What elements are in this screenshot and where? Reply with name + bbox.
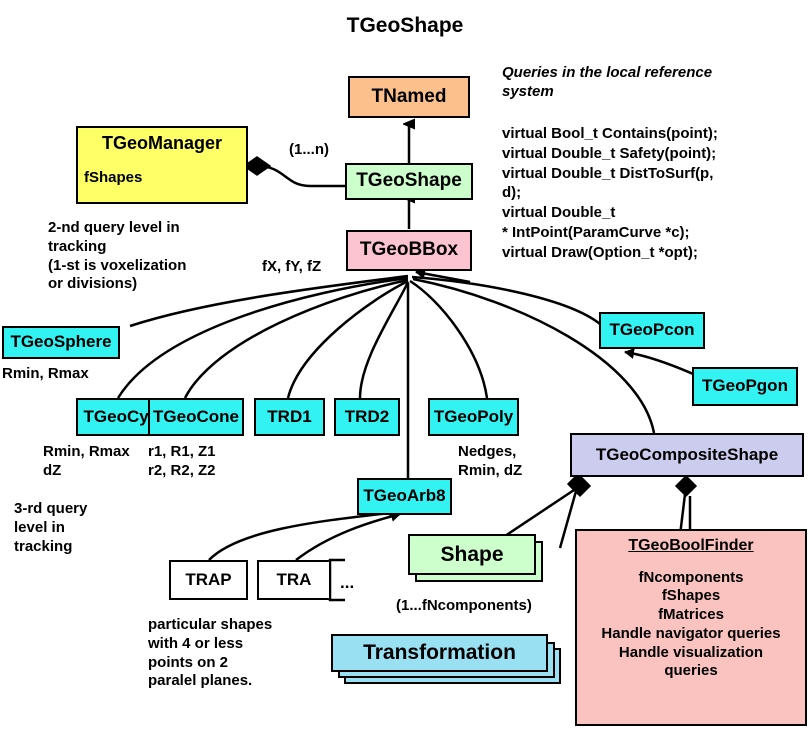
- edge-tra-tgeoarb8: [296, 514, 400, 560]
- node-tgeocone-label: TGeoCone: [153, 408, 239, 427]
- method-line-0: virtual Bool_t Contains(point);: [502, 124, 718, 144]
- method-line-3: d);: [502, 183, 718, 203]
- node-tgeoboolfinder-line-5: queries: [664, 662, 717, 681]
- method-line-5: * IntPoint(ParamCurve *c);: [502, 223, 718, 243]
- node-tgeomanager-attr: fShapes: [84, 170, 142, 187]
- node-tnamed[interactable]: TNamed: [348, 76, 470, 118]
- node-tgeoshape-label: TGeoShape: [356, 171, 462, 192]
- node-tgeopcon-label: TGeoPcon: [609, 321, 694, 340]
- node-tgeoboolfinder-line-3: Handle navigator queries: [601, 625, 780, 644]
- bbox-attrs-label: fX, fY, fZ: [262, 258, 321, 277]
- node-tgeocone[interactable]: TGeoCone: [148, 398, 244, 436]
- node-tgeoarb8[interactable]: TGeoArb8: [357, 478, 452, 515]
- edge-manager-shape: [244, 157, 345, 186]
- node-trd2-label: TRD2: [345, 408, 389, 427]
- ellipsis-label: ...: [340, 572, 354, 593]
- third-query-level-note: 3-rd query level in tracking: [14, 500, 87, 556]
- node-trd1-label: TRD1: [267, 408, 311, 427]
- node-tgeoshape[interactable]: TGeoShape: [345, 163, 473, 200]
- node-tgeoboolfinder-header: TGeoBoolFinder: [628, 537, 753, 555]
- methods-list: virtual Bool_t Contains(point); virtual …: [502, 124, 718, 263]
- node-tgeobbox-label: TGeoBBox: [360, 240, 458, 261]
- method-line-4: virtual Double_t: [502, 203, 718, 223]
- node-tgeopcon[interactable]: TGeoPcon: [599, 312, 705, 349]
- edge-tgeopgon-tgeopcon: [625, 352, 700, 377]
- node-tgeopoly-label: TGeoPoly: [434, 408, 513, 427]
- node-tgeocyl-label: TGeoCyl: [84, 408, 154, 427]
- node-tgeoarb8-label: TGeoArb8: [363, 487, 445, 506]
- node-trap-label: TRAP: [185, 571, 231, 590]
- node-transformation[interactable]: Transformation: [331, 634, 548, 672]
- node-trap[interactable]: TRAP: [169, 560, 248, 600]
- node-tnamed-label: TNamed: [372, 87, 447, 108]
- node-tgeomanager[interactable]: TGeoManager fShapes: [76, 126, 248, 204]
- node-tgeosphere-label: TGeoSphere: [10, 333, 111, 352]
- node-trd1[interactable]: TRD1: [254, 398, 325, 436]
- cyl-attrs-label: Rmin, Rmax dZ: [43, 443, 130, 481]
- node-tgeoboolfinder-line-4: Handle visualization: [619, 644, 763, 663]
- node-tgeomanager-label: TGeoManager: [102, 134, 222, 154]
- node-tgeopgon-label: TGeoPgon: [702, 377, 788, 396]
- second-query-level-note: 2-nd query level in tracking (1-st is vo…: [48, 219, 186, 294]
- node-tgeoboolfinder-line-2: fMatrices: [658, 606, 724, 625]
- composition-diamond-transformation: [676, 476, 696, 496]
- page-title: TGeoShape: [0, 14, 810, 38]
- node-transformation-label: Transformation: [363, 641, 516, 664]
- node-tgeoboolfinder-line-1: fShapes: [662, 587, 720, 606]
- method-line-2: virtual Double_t DistToSurf(p,: [502, 164, 718, 184]
- method-line-6: virtual Draw(Option_t *opt);: [502, 243, 718, 263]
- composition-diamond-boolfinder: [568, 474, 588, 494]
- node-tgeocompositeshape-label: TGeoCompositeShape: [596, 446, 778, 465]
- multiplicity-label-n: (1...n): [289, 141, 329, 160]
- node-tra-label: TRA: [277, 571, 312, 590]
- node-shape[interactable]: Shape: [408, 534, 536, 575]
- poly-attrs-label: Nedges, Rmin, dZ: [458, 443, 522, 481]
- node-tgeopoly[interactable]: TGeoPoly: [428, 398, 519, 436]
- edge-trap-tgeoarb8: [209, 512, 398, 560]
- node-shape-label: Shape: [440, 543, 503, 566]
- node-tgeobbox[interactable]: TGeoBBox: [346, 230, 472, 271]
- node-tgeopgon[interactable]: TGeoPgon: [692, 367, 798, 406]
- node-tgeosphere[interactable]: TGeoSphere: [2, 326, 120, 359]
- node-tgeocompositeshape[interactable]: TGeoCompositeShape: [570, 433, 804, 477]
- particular-shapes-note: particular shapes with 4 or less points …: [148, 616, 272, 691]
- sphere-attrs-label: Rmin, Rmax: [2, 365, 89, 384]
- method-line-1: virtual Double_t Safety(point);: [502, 144, 718, 164]
- node-tra[interactable]: TRA: [257, 560, 331, 600]
- composition-diamond-shape: [570, 476, 590, 496]
- class-diagram-canvas: TGeoShape TNamed (generalization) --> TG…: [0, 0, 810, 735]
- node-tgeoboolfinder-line-0: fNcomponents: [639, 569, 744, 588]
- queries-note: Queries in the local reference system: [502, 64, 712, 102]
- node-trd2[interactable]: TRD2: [334, 398, 400, 436]
- node-tgeoboolfinder[interactable]: TGeoBoolFinder fNcomponents fShapes fMat…: [575, 529, 807, 726]
- cone-attrs-label: r1, R1, Z1 r2, R2, Z2: [148, 443, 216, 481]
- multiplicity-components-label: (1...fNcomponents): [396, 597, 532, 616]
